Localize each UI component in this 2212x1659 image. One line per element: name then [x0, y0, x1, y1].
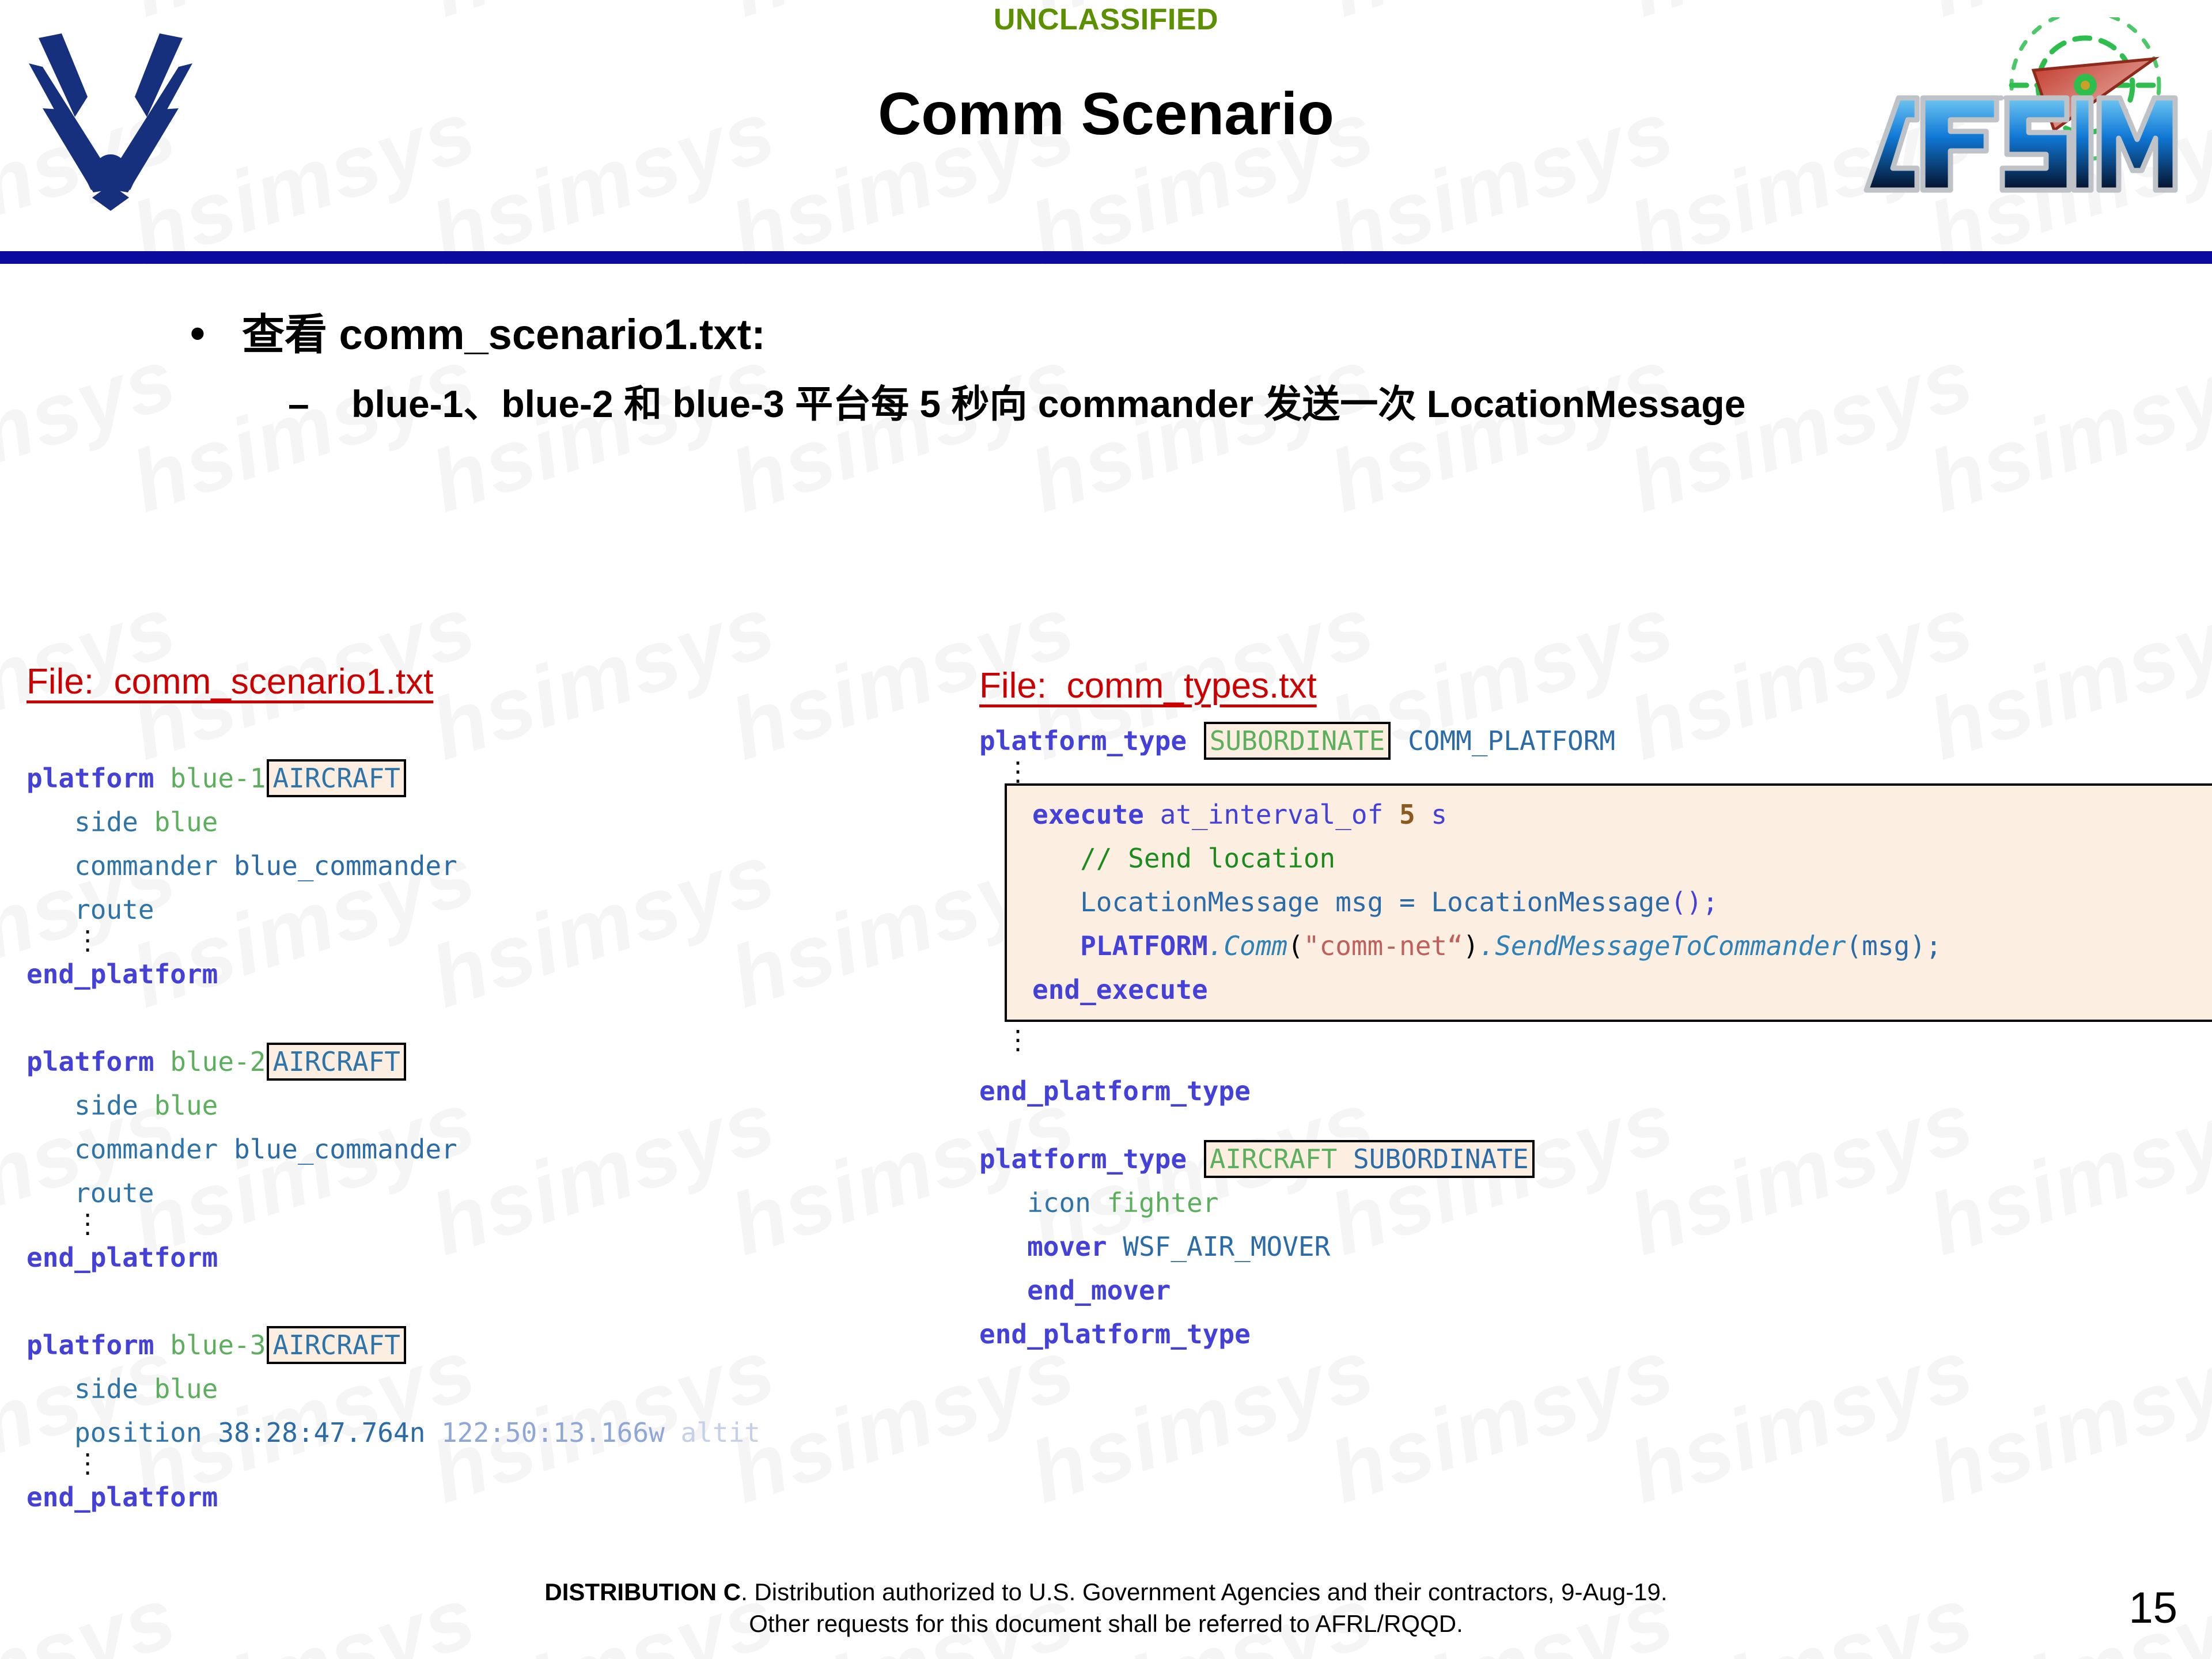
distribution-label: DISTRIBUTION C: [544, 1578, 741, 1605]
right-code-body-2: platform_type AIRCRAFT SUBORDINATE icon …: [979, 1137, 2212, 1356]
attr-route-1: route: [74, 894, 154, 925]
bullet-list: • 查看 comm_scenario1.txt: – blue-1、blue-2…: [190, 311, 2091, 427]
distribution-footer: DISTRIBUTION C. Distribution authorized …: [0, 1576, 2212, 1640]
attr-commander-1: commander: [74, 850, 218, 881]
decl-type: LocationMessage: [1080, 887, 1319, 918]
interval-value: 5: [1399, 799, 1415, 830]
right-code-panel: File: comm_types.txt platform_type SUBOR…: [979, 665, 2212, 1356]
end-platform-type-2: end_platform_type: [979, 1319, 1251, 1350]
attr-side-1: side: [74, 806, 138, 838]
decl-equals: =: [1399, 887, 1415, 918]
decl-ctor: LocationMessage: [1431, 887, 1670, 918]
call-close-paren: ): [1463, 930, 1479, 961]
comm-method: .Comm: [1208, 930, 1287, 961]
position-latitude: 38:28:47.764n: [218, 1417, 425, 1448]
decl-var: msg: [1335, 887, 1383, 918]
platform-object: PLATFORM: [1080, 930, 1208, 961]
attr-side-value-3: blue: [154, 1373, 218, 1404]
type-highlight-1: AIRCRAFT: [267, 759, 406, 797]
position-longitude: 122:50:13.166w: [441, 1417, 665, 1448]
attr-side-value-2: blue: [154, 1090, 218, 1121]
subordinate-highlight: SUBORDINATE: [1204, 722, 1391, 760]
attr-side-2: side: [74, 1090, 138, 1121]
subordinate-base-name: SUBORDINATE: [1353, 1143, 1529, 1175]
bullet-level-1-text: 查看 comm_scenario1.txt:: [242, 310, 766, 358]
end-platform-3: end_platform: [26, 1482, 218, 1513]
execute-keyword: execute: [1032, 799, 1144, 830]
comm-net-string: "comm-net“: [1304, 930, 1463, 961]
decl-parens: ();: [1671, 887, 1718, 918]
end-platform-1: end_platform: [26, 959, 218, 990]
left-code-panel: File: comm_scenario1.txt platform blue-1…: [26, 661, 925, 1519]
position-altitude-partial: altit: [681, 1417, 760, 1448]
call-argument: (msg);: [1846, 930, 1941, 961]
page-number: 15: [2128, 1583, 2177, 1633]
bullet-level-1: • 查看 comm_scenario1.txt:: [190, 311, 2091, 359]
ellipsis-right-1: ⋮: [1005, 763, 2212, 780]
ellipsis-1: ⋮: [26, 931, 925, 949]
comm-platform-base: COMM_PLATFORM: [1408, 725, 1615, 756]
at-interval-of-attr: at_interval_of: [1160, 799, 1384, 830]
end-execute-keyword: end_execute: [1032, 974, 1208, 1005]
attr-side-value-1: blue: [154, 806, 218, 838]
ellipsis-3: ⋮: [26, 1455, 925, 1472]
air-force-wings-logo: [7, 22, 214, 213]
platform-name-1: blue-1: [170, 763, 266, 794]
right-file-heading: File: comm_types.txt: [979, 665, 2212, 706]
mover-value: WSF_AIR_MOVER: [1123, 1231, 1330, 1262]
interval-unit: s: [1431, 799, 1447, 830]
end-platform-type-1: end_platform_type: [979, 1075, 1251, 1107]
attr-route-2: route: [74, 1177, 154, 1209]
left-code-body-4: end_platform: [26, 1475, 925, 1519]
aircraft-type-name: AIRCRAFT: [1210, 1143, 1338, 1175]
icon-attr: icon: [1027, 1187, 1091, 1218]
attr-commander-2: commander: [74, 1134, 218, 1165]
mover-attr: mover: [1027, 1231, 1107, 1262]
execute-block-callout: execute at_interval_of 5 s // Send locat…: [1005, 783, 2212, 1022]
platform-type-keyword-1: platform_type: [979, 725, 1187, 756]
type-highlight-2: AIRCRAFT: [267, 1043, 406, 1081]
attr-commander-value-1: blue_commander: [234, 850, 457, 881]
attr-position: position: [74, 1417, 202, 1448]
platform-keyword-3: platform: [26, 1330, 154, 1361]
bullet-marker: •: [190, 310, 205, 358]
ellipsis-right-2: ⋮: [1005, 1031, 2212, 1048]
dash-marker: –: [288, 381, 309, 427]
platform-keyword-2: platform: [26, 1046, 154, 1077]
left-code-body-2: end_platform platform blue-2AIRCRAFT sid…: [26, 952, 925, 1215]
send-message-to-commander-method: .SendMessageToCommander: [1479, 930, 1846, 961]
icon-value: fighter: [1107, 1187, 1219, 1218]
right-code-body-1: platform_type SUBORDINATE COMM_PLATFORM: [979, 719, 2212, 763]
send-location-comment: // Send location: [1080, 843, 1335, 874]
header-divider-rule: [0, 251, 2212, 264]
end-platform-type-1-line: end_platform_type: [979, 1069, 2212, 1113]
end-platform-2: end_platform: [26, 1242, 218, 1273]
bullet-level-2-text: blue-1、blue-2 和 blue-3 平台每 5 秒向 commande…: [351, 382, 1745, 425]
footer-line-1: DISTRIBUTION C. Distribution authorized …: [0, 1576, 2212, 1608]
platform-type-keyword-2: platform_type: [979, 1143, 1187, 1175]
aircraft-subordinate-highlight: AIRCRAFT SUBORDINATE: [1204, 1140, 1535, 1178]
left-code-body-3: end_platform platform blue-3AIRCRAFT sid…: [26, 1236, 925, 1455]
platform-name-2: blue-2: [170, 1046, 266, 1077]
platform-name-3: blue-3: [170, 1330, 266, 1361]
left-file-heading: File: comm_scenario1.txt: [26, 661, 925, 702]
bullet-level-2: – blue-1、blue-2 和 blue-3 平台每 5 秒向 comman…: [288, 381, 2039, 427]
end-mover-keyword: end_mover: [1027, 1275, 1171, 1306]
execute-code: execute at_interval_of 5 s // Send locat…: [1032, 793, 2212, 1012]
footer-line-2: Other requests for this document shall b…: [0, 1608, 2212, 1639]
ellipsis-2: ⋮: [26, 1215, 925, 1232]
platform-keyword-1: platform: [26, 763, 154, 794]
attr-commander-value-2: blue_commander: [234, 1134, 457, 1165]
attr-side-3: side: [74, 1373, 138, 1404]
call-open-paren: (: [1287, 930, 1304, 961]
type-highlight-3: AIRCRAFT: [267, 1326, 406, 1364]
afsim-logo: [1843, 17, 2200, 196]
distribution-text: . Distribution authorized to U.S. Govern…: [741, 1578, 1668, 1605]
left-code-body: platform blue-1AIRCRAFT side blue comman…: [26, 713, 925, 931]
